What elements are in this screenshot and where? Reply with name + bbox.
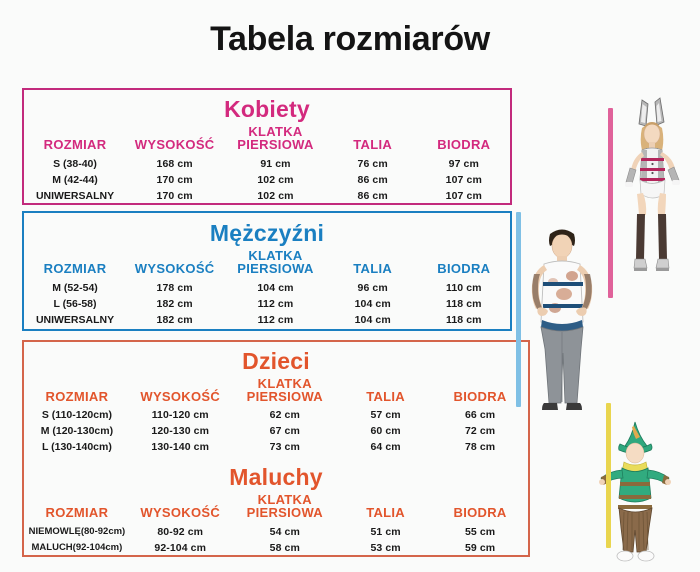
cell-chest: 112 cm: [223, 312, 327, 328]
cell-size: M (42-44): [24, 172, 126, 188]
table-men-title: Mężczyźni: [24, 220, 510, 247]
cell-height: 130-140 cm: [130, 439, 231, 455]
column-header-hips: BIODRA: [418, 138, 510, 151]
cell-hips: 66 cm: [432, 407, 528, 423]
table-kids-header-row: ROZMIAR WYSOKOŚĆ KLATKA PIERSIOWA TALIA …: [24, 377, 528, 403]
column-header-height: WYSOKOŚĆ: [130, 506, 231, 519]
cell-hips: 107 cm: [418, 172, 510, 188]
page-title: Tabela rozmiarów: [0, 20, 700, 59]
column-header-height: WYSOKOŚĆ: [130, 390, 231, 403]
cell-height: 170 cm: [126, 188, 223, 204]
cell-hips: 107 cm: [418, 188, 510, 204]
column-header-size: ROZMIAR: [24, 138, 126, 151]
table-row: L (130-140cm) 130-140 cm 73 cm 64 cm 78 …: [24, 439, 528, 455]
table-row: NIEMOWLĘ(80-92cm) 80-92 cm 54 cm 51 cm 5…: [24, 524, 528, 540]
table-row: M (42-44) 170 cm 102 cm 86 cm 107 cm: [24, 172, 510, 188]
table-toddlers-header-row: ROZMIAR WYSOKOŚĆ KLATKA PIERSIOWA TALIA …: [24, 493, 528, 519]
table-men: Mężczyźni ROZMIAR WYSOKOŚĆ KLATKA PIERSI…: [22, 211, 512, 331]
table-kids-title: Dzieci: [24, 348, 528, 375]
cell-waist: 96 cm: [328, 280, 418, 296]
table-men-header-row: ROZMIAR WYSOKOŚĆ KLATKA PIERSIOWA TALIA …: [24, 249, 510, 275]
cell-chest: 58 cm: [231, 540, 339, 556]
cell-waist: 51 cm: [339, 524, 432, 540]
cell-waist: 104 cm: [328, 312, 418, 328]
cell-height: 182 cm: [126, 296, 223, 312]
cell-chest: 73 cm: [231, 439, 339, 455]
size-chart-page: Tabela rozmiarów Kobiety ROZMIAR WYSOKOŚ…: [0, 0, 700, 572]
table-women-header-row: ROZMIAR WYSOKOŚĆ KLATKA PIERSIOWA TALIA …: [24, 125, 510, 151]
cell-waist: 53 cm: [339, 540, 432, 556]
cell-chest: 91 cm: [223, 156, 327, 172]
table-row: M (120-130cm) 120-130 cm 67 cm 60 cm 72 …: [24, 423, 528, 439]
column-header-chest-line2: PIERSIOWA: [237, 137, 313, 152]
cell-waist: 104 cm: [328, 296, 418, 312]
cell-waist: 86 cm: [328, 172, 418, 188]
column-header-waist: TALIA: [328, 138, 418, 151]
cell-waist: 60 cm: [339, 423, 432, 439]
column-header-hips: BIODRA: [432, 506, 528, 519]
table-row: MALUCH(92-104cm) 92-104 cm 58 cm 53 cm 5…: [24, 540, 528, 556]
column-header-chest: KLATKA PIERSIOWA: [223, 249, 327, 275]
cell-size: L (56-58): [24, 296, 126, 312]
table-women: Kobiety ROZMIAR WYSOKOŚĆ KLATKA PIERSIOW…: [22, 88, 512, 205]
cell-height: 170 cm: [126, 172, 223, 188]
cell-hips: 110 cm: [418, 280, 510, 296]
table-row: UNIWERSALNY 182 cm 112 cm 104 cm 118 cm: [24, 312, 510, 328]
cell-chest: 102 cm: [223, 188, 327, 204]
cell-size: UNIWERSALNY: [24, 312, 126, 328]
column-header-waist: TALIA: [339, 390, 432, 403]
column-header-chest-line2: PIERSIOWA: [247, 389, 323, 404]
measuring-tape-blue: [516, 212, 521, 407]
cell-height: 168 cm: [126, 156, 223, 172]
column-header-size: ROZMIAR: [24, 390, 130, 403]
cell-chest: 54 cm: [231, 524, 339, 540]
table-row: L (56-58) 182 cm 112 cm 104 cm 118 cm: [24, 296, 510, 312]
cell-chest: 67 cm: [231, 423, 339, 439]
cell-height: 120-130 cm: [130, 423, 231, 439]
cell-hips: 55 cm: [432, 524, 528, 540]
table-children: Dzieci ROZMIAR WYSOKOŚĆ KLATKA PIERSIOWA…: [22, 340, 530, 557]
column-header-waist: TALIA: [339, 506, 432, 519]
column-header-size: ROZMIAR: [24, 262, 126, 275]
measuring-tape-pink: [608, 108, 613, 298]
cell-height: 80-92 cm: [130, 524, 231, 540]
column-header-size: ROZMIAR: [24, 506, 130, 519]
cell-waist: 64 cm: [339, 439, 432, 455]
column-header-waist: TALIA: [328, 262, 418, 275]
cell-size: UNIWERSALNY: [24, 188, 126, 204]
column-header-chest: KLATKA PIERSIOWA: [223, 125, 327, 151]
woman-bunny-costume-figure: [614, 92, 692, 287]
cell-height: 178 cm: [126, 280, 223, 296]
cell-waist: 76 cm: [328, 156, 418, 172]
cell-hips: 78 cm: [432, 439, 528, 455]
column-header-hips: BIODRA: [418, 262, 510, 275]
cell-size: L (130-140cm): [24, 439, 130, 455]
table-row: M (52-54) 178 cm 104 cm 96 cm 110 cm: [24, 280, 510, 296]
cell-hips: 118 cm: [418, 296, 510, 312]
cell-hips: 118 cm: [418, 312, 510, 328]
measuring-tape-yellow: [606, 403, 611, 548]
cell-height: 110-120 cm: [130, 407, 231, 423]
table-row: S (38-40) 168 cm 91 cm 76 cm 97 cm: [24, 156, 510, 172]
cell-waist: 86 cm: [328, 188, 418, 204]
table-row: UNIWERSALNY 170 cm 102 cm 86 cm 107 cm: [24, 188, 510, 204]
cell-height: 92-104 cm: [130, 540, 231, 556]
column-header-height: WYSOKOŚĆ: [126, 138, 223, 151]
cell-chest: 102 cm: [223, 172, 327, 188]
cell-height: 182 cm: [126, 312, 223, 328]
woman-figure-svg: [614, 92, 692, 287]
cell-size: S (110-120cm): [24, 407, 130, 423]
column-header-height: WYSOKOŚĆ: [126, 262, 223, 275]
column-header-chest-line2: PIERSIOWA: [237, 261, 313, 276]
table-row: S (110-120cm) 110-120 cm 62 cm 57 cm 66 …: [24, 407, 528, 423]
cell-size: S (38-40): [24, 156, 126, 172]
column-header-chest: KLATKA PIERSIOWA: [231, 493, 339, 519]
cell-size: MALUCH(92-104cm): [24, 540, 130, 556]
table-toddlers-title: Maluchy: [24, 464, 528, 491]
cell-chest: 62 cm: [231, 407, 339, 423]
cell-waist: 57 cm: [339, 407, 432, 423]
cell-hips: 59 cm: [432, 540, 528, 556]
cell-size: M (120-130cm): [24, 423, 130, 439]
column-header-chest-line2: PIERSIOWA: [247, 505, 323, 520]
cell-chest: 112 cm: [223, 296, 327, 312]
column-header-hips: BIODRA: [432, 390, 528, 403]
cell-size: M (52-54): [24, 280, 126, 296]
table-women-title: Kobiety: [24, 96, 510, 123]
cell-size: NIEMOWLĘ(80-92cm): [24, 524, 130, 540]
man-figure-svg: [522, 222, 602, 412]
man-tattooed-figure: [522, 222, 602, 412]
cell-chest: 104 cm: [223, 280, 327, 296]
column-header-chest: KLATKA PIERSIOWA: [231, 377, 339, 403]
cell-hips: 97 cm: [418, 156, 510, 172]
cell-hips: 72 cm: [432, 423, 528, 439]
